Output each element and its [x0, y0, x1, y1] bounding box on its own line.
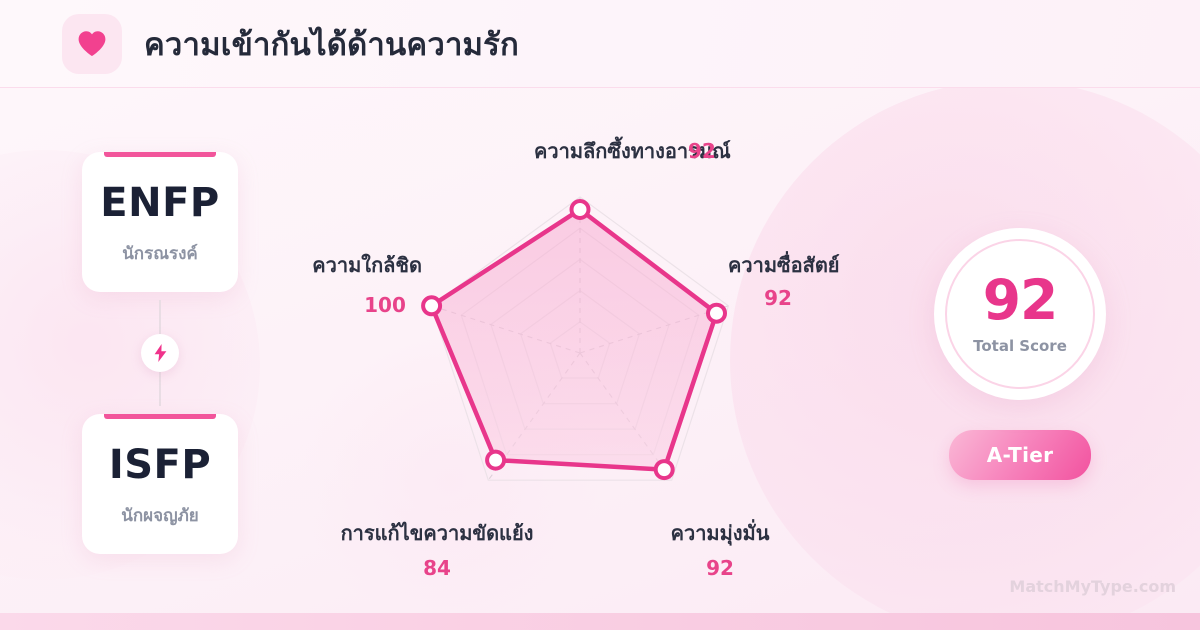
type-code-first: ENFP [100, 183, 219, 223]
svg-text:100: 100 [364, 293, 406, 317]
svg-text:การแก้ไขความขัดแย้ง: การแก้ไขความขัดแย้ง [341, 521, 534, 545]
compatibility-radar-chart: ความลึกซึ้งทางอารมณ์ 92 ความซื่อสัตย์ 92… [290, 100, 870, 600]
score-panel: 92 Total Score A-Tier [920, 228, 1120, 480]
svg-text:ความมุ่งมั่น: ความมุ่งมั่น [671, 518, 770, 546]
page-title: ความเข้ากันได้ด้านความรัก [144, 19, 519, 69]
page-header: ความเข้ากันได้ด้านความรัก [0, 0, 1200, 88]
score-content: 92 Total Score [973, 273, 1067, 355]
radar-axis-label-intimacy: ความใกล้ชิด 100 [312, 253, 422, 317]
radar-axis-label-conflict-resolution: การแก้ไขความขัดแย้ง 84 [341, 521, 534, 580]
type-code-second: ISFP [109, 445, 211, 485]
heart-icon [62, 14, 122, 74]
card-accent-bar [104, 414, 216, 419]
radar-axis-label-loyalty: ความซื่อสัตย์ 92 [728, 250, 840, 310]
total-score-value: 92 [973, 273, 1067, 328]
type-name-second: นักผจญภัย [121, 502, 199, 529]
type-card-second[interactable]: ISFP นักผจญภัย [82, 414, 238, 554]
svg-text:ความซื่อสัตย์: ความซื่อสัตย์ [728, 250, 840, 277]
type-connector [82, 292, 238, 414]
total-score-circle: 92 Total Score [934, 228, 1106, 400]
compatibility-infographic: ความเข้ากันได้ด้านความรัก ENFP นักรณรงค์… [0, 0, 1200, 630]
bottom-accent-bar [0, 613, 1200, 630]
lightning-bolt-icon [141, 334, 179, 372]
svg-text:84: 84 [423, 556, 451, 580]
type-name-first: นักรณรงค์ [122, 240, 198, 267]
svg-text:92: 92 [688, 139, 716, 163]
type-card-first[interactable]: ENFP นักรณรงค์ [82, 152, 238, 292]
site-watermark: MatchMyType.com [1009, 577, 1176, 596]
total-score-caption: Total Score [973, 337, 1067, 355]
tier-badge: A-Tier [949, 430, 1092, 480]
radar-axis-label-commitment: ความมุ่งมั่น 92 [671, 518, 770, 580]
svg-text:92: 92 [706, 556, 734, 580]
svg-text:ความใกล้ชิด: ความใกล้ชิด [312, 253, 422, 277]
card-accent-bar [104, 152, 216, 157]
svg-text:92: 92 [764, 286, 792, 310]
radar-axis-label-emotional-depth: ความลึกซึ้งทางอารมณ์ 92 [534, 136, 731, 163]
personality-type-pair: ENFP นักรณรงค์ ISFP นักผจญภัย [82, 152, 238, 554]
radar-data-area [432, 210, 717, 470]
